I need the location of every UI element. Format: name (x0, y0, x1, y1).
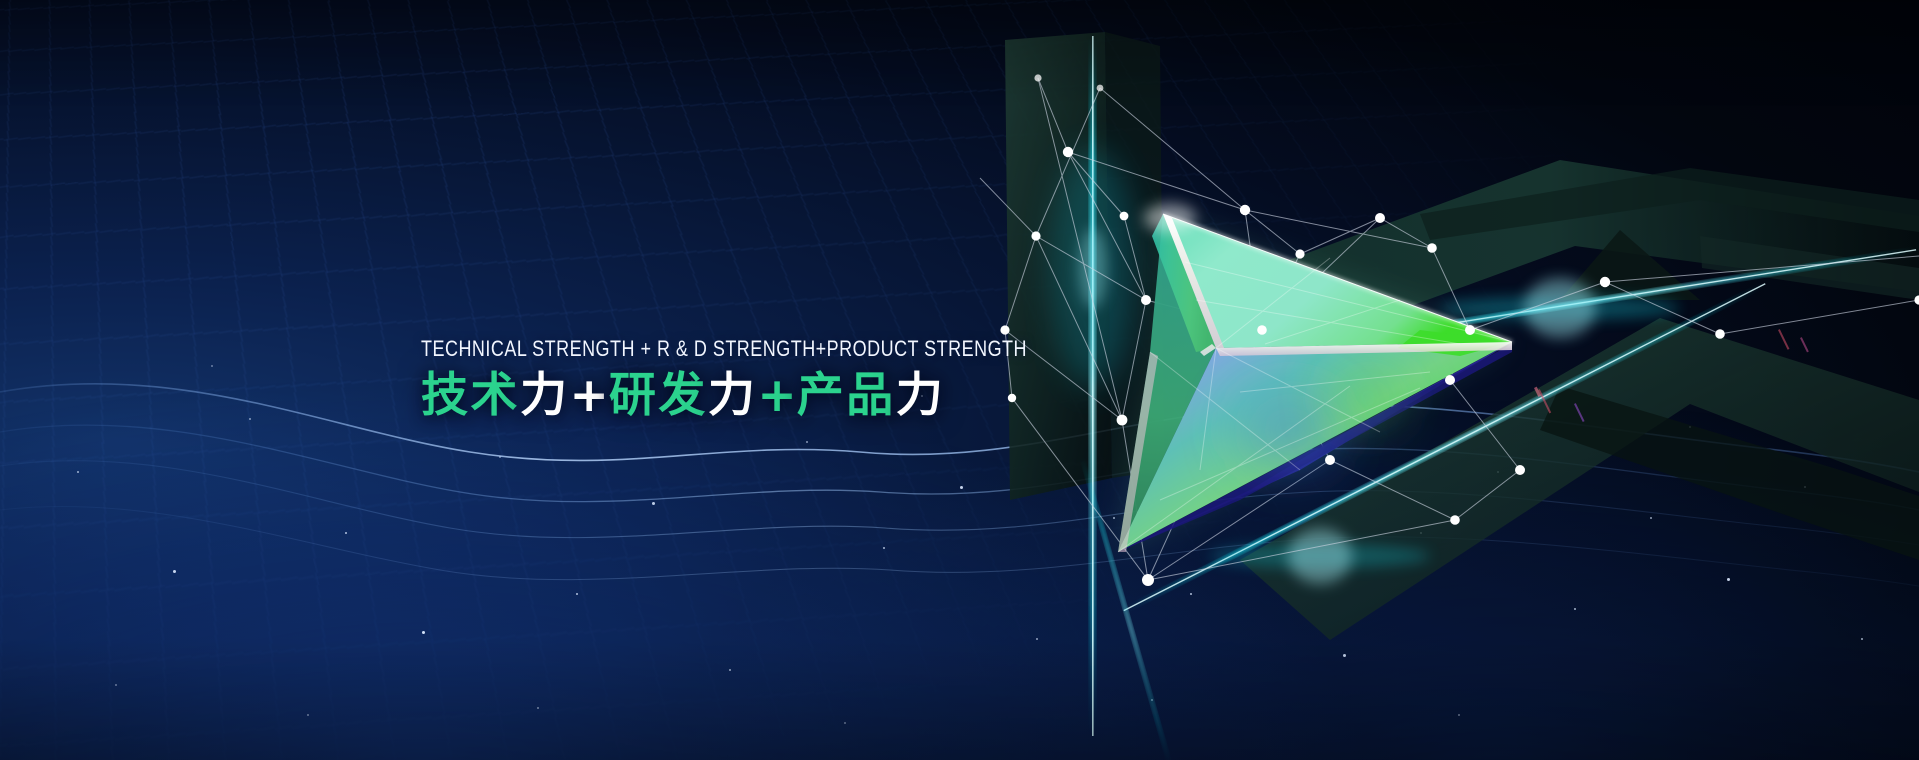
page-title: 技术力+研发力+产品力 (421, 372, 1179, 419)
headline-block: TECHNICAL STRENGTH + R & D STRENGTH+PROD… (421, 338, 1179, 419)
banner-root: TECHNICAL STRENGTH + R & D STRENGTH+PROD… (0, 0, 1919, 760)
eyebrow-text: TECHNICAL STRENGTH + R & D STRENGTH+PROD… (421, 338, 1027, 361)
title-segment-li-2: 力 (708, 368, 758, 423)
title-segment-tech: 技术 (421, 368, 520, 423)
title-segment-li-1: 力 (520, 368, 570, 423)
title-segment-rd: 研发 (609, 368, 708, 423)
title-plus-1: + (570, 368, 609, 423)
title-segment-li-3: 力 (896, 368, 946, 423)
title-plus-2: + (757, 368, 796, 423)
title-segment-product: 产品 (797, 368, 896, 423)
